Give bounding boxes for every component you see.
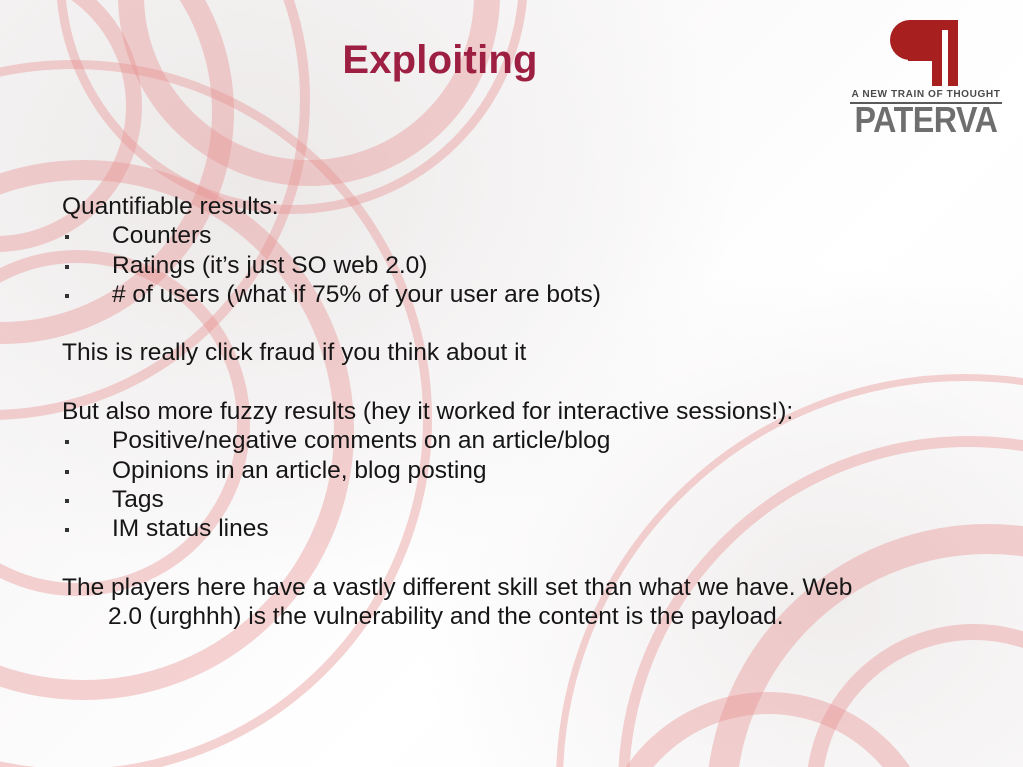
spacer-line (62, 368, 992, 397)
page-title: Exploiting (0, 38, 880, 83)
body-text-line: This is really click fraud if you think … (62, 338, 992, 367)
bullet-dot-icon (65, 265, 69, 269)
bullet-dot-icon (65, 528, 69, 532)
bullet-list-item: Ratings (it’s just SO web 2.0) (62, 251, 992, 280)
body-paragraph: The players here have a vastly different… (62, 573, 992, 632)
bullet-list-item: Counters (62, 221, 992, 250)
body-text-line: Quantifiable results: (62, 192, 992, 221)
slide-body: Quantifiable results:CountersRatings (it… (62, 192, 992, 631)
logo-tagline: A NEW TRAIN OF THOUGHT (851, 88, 1001, 100)
decorative-ring (806, 624, 1023, 767)
paragraph-line: The players here have a vastly different… (62, 574, 852, 601)
body-text-line: But also more fuzzy results (hey it work… (62, 397, 992, 426)
paterva-logo: A NEW TRAIN OF THOUGHT PATERVA (846, 18, 1006, 130)
bullet-label: Tags (112, 486, 164, 513)
bullet-list-item: Opinions in an article, blog posting (62, 456, 992, 485)
slide-canvas: Exploiting A NEW TRAIN OF THOUGHT PATERV… (0, 0, 1023, 767)
bullet-label: IM status lines (112, 515, 269, 542)
bullet-list-item: IM status lines (62, 514, 992, 543)
paragraph-continuation: 2.0 (urghhh) is the vulnerability and th… (62, 602, 992, 631)
bullet-dot-icon (65, 499, 69, 503)
bullet-dot-icon (65, 294, 69, 298)
bullet-dot-icon (65, 440, 69, 444)
spacer-line (62, 544, 992, 573)
pilcrow-icon (890, 18, 964, 88)
decorative-ring (596, 692, 940, 767)
decorative-ring (118, 0, 500, 186)
spacer-line (62, 309, 992, 338)
bullet-list-item: # of users (what if 75% of your user are… (62, 280, 992, 309)
bullet-label: # of users (what if 75% of your user are… (112, 281, 601, 308)
bullet-dot-icon (65, 235, 69, 239)
bullet-dot-icon (65, 470, 69, 474)
bullet-label: Opinions in an article, blog posting (112, 457, 487, 484)
decorative-ring (56, 0, 528, 214)
logo-wordmark: PATERVA (852, 102, 999, 138)
bullet-list-item: Tags (62, 485, 992, 514)
bullet-label: Positive/negative comments on an article… (112, 427, 610, 454)
bullet-label: Ratings (it’s just SO web 2.0) (112, 252, 427, 279)
bullet-label: Counters (112, 222, 211, 249)
bullet-list-item: Positive/negative comments on an article… (62, 426, 992, 455)
